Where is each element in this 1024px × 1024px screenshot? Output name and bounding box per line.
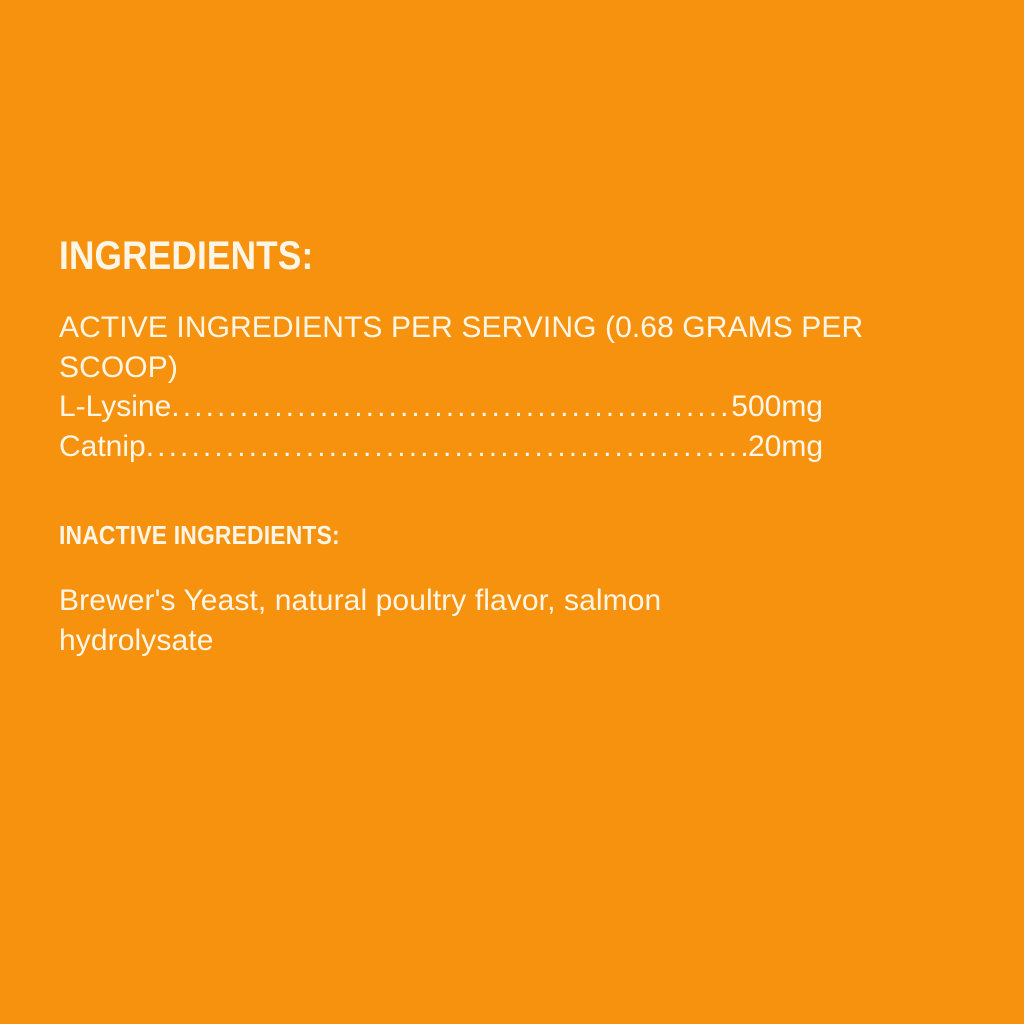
list-item: Catnip 20mg — [59, 427, 823, 467]
ingredient-name: L-Lysine — [59, 387, 171, 427]
dot-leader — [171, 387, 731, 427]
spacer — [59, 548, 939, 581]
ingredients-panel: INGREDIENTS: ACTIVE INGREDIENTS PER SERV… — [59, 236, 939, 661]
spacer — [59, 276, 939, 308]
spacer — [59, 466, 939, 522]
list-item: L-Lysine 500mg — [59, 387, 823, 427]
inactive-ingredients-heading: INACTIVE INGREDIENTS: — [59, 522, 833, 548]
ingredient-name: Catnip — [59, 427, 146, 467]
ingredient-amount: 500mg — [731, 387, 823, 427]
active-ingredients-serving-line: ACTIVE INGREDIENTS PER SERVING (0.68 GRA… — [59, 308, 904, 387]
inactive-ingredients-text: Brewer's Yeast, natural poultry flavor, … — [59, 581, 819, 660]
ingredient-amount: 20mg — [748, 427, 823, 467]
active-ingredients-list: L-Lysine 500mg Catnip 20mg — [59, 387, 823, 466]
ingredients-heading: INGREDIENTS: — [59, 236, 833, 276]
dot-leader — [146, 427, 748, 467]
